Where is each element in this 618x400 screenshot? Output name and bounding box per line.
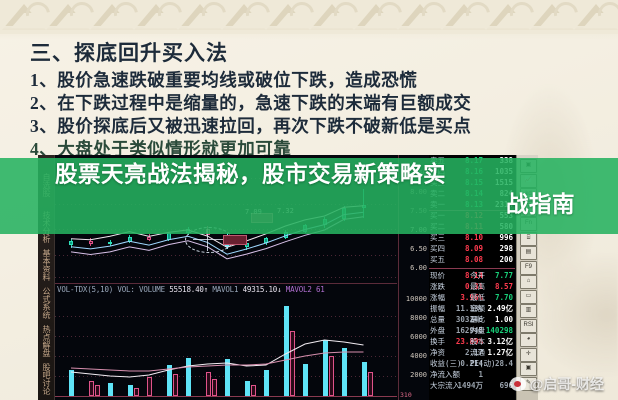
stat-label: 换手: [430, 336, 445, 347]
stat-value-2: 140298: [486, 325, 513, 336]
stat-label: 外盘: [430, 325, 445, 336]
stat-label-2: 内盘: [470, 325, 485, 336]
lesson-item-1: 1、股价急速跌破重要均线或破位下跌，造成恐慌: [30, 69, 600, 92]
lesson-heading: 三、探底回升买入法: [30, 40, 600, 66]
quote-qty: 200: [499, 254, 513, 265]
price-axis-tick: 6.50: [410, 245, 427, 253]
stat-value-2: 1.27亿: [487, 347, 513, 358]
watermark-handle: @启哥-财经: [530, 374, 604, 394]
sidebar-item-4[interactable]: 热点解盘: [39, 325, 53, 357]
stat-value-2: 7.77: [495, 270, 513, 281]
volume-axis-tick: 4000: [410, 352, 427, 360]
f9-icon[interactable]: F9: [520, 261, 537, 275]
screenshot-root: 三、探底回升买入法 1、股价急速跌破重要均线或破位下跌，造成恐慌 2、在下跌过程…: [0, 0, 618, 400]
stat-label-2: 量比: [470, 314, 485, 325]
stat-value-2: 2.49亿: [487, 303, 513, 314]
quote-qty: 298: [499, 243, 513, 254]
table-icon[interactable]: ▥: [520, 304, 537, 318]
quote-stat-row: 净流入额1: [429, 369, 515, 380]
quote-label: 买五: [430, 254, 445, 265]
stat-value-2: 7.70: [495, 292, 513, 303]
sidebar-item-3[interactable]: 公式系统: [39, 287, 53, 319]
bid-row[interactable]: 买四8.09298: [429, 243, 515, 254]
lesson-item-3: 3、股价探底后又被迅速拉回，再次下跌不破新低是买点: [30, 115, 600, 138]
quote-price: 8.08: [455, 254, 483, 265]
window-icon[interactable]: ▭: [520, 290, 537, 304]
ornament-fade: [0, 26, 618, 40]
stat-value-2: 3.12亿: [487, 336, 513, 347]
banner-title-line1: 股票天亮战法揭秘，股市交易新策略实: [55, 162, 446, 187]
stat-value: 1: [455, 369, 483, 380]
quote-stat-row: 换手23.89%股本3.12亿: [429, 336, 515, 347]
quote-stat-row: 振幅11.13%金额2.49亿: [429, 303, 515, 314]
quote-stat-row: 涨幅3.96%最低7.70: [429, 292, 515, 303]
crosshair-icon[interactable]: ✛: [520, 348, 537, 362]
stat-label: 涨幅: [430, 292, 445, 303]
stat-label: 涨跌: [430, 281, 445, 292]
pie-icon[interactable]: ◕: [520, 333, 537, 347]
stat-label-2: 股本: [470, 336, 485, 347]
stat-label: 振幅: [430, 303, 445, 314]
price-tag-0: [223, 235, 247, 245]
volume-ma-lines: [55, 284, 397, 400]
volume-axis-tick: 10000: [406, 295, 427, 303]
quote-stat-row: 大宗流入1494万696: [429, 380, 515, 391]
quote-stat-row: 涨跌0.31最高8.57: [429, 281, 515, 292]
quote-stat-row: 外盘162948内盘140298: [429, 325, 515, 336]
stat-value-2: 28.4: [495, 358, 513, 369]
stat-label: 总量: [430, 314, 445, 325]
volume-axis-tick: 8000: [410, 314, 427, 322]
weibo-icon: [510, 377, 526, 391]
quote-price: 8.09: [455, 243, 483, 254]
volume-chart-pane[interactable]: VOL-TDX(5,10) VOL: VOLUME 55518.40↑ MAVO…: [55, 284, 397, 400]
stat-label-2: 今开: [470, 270, 485, 281]
panel-icon[interactable]: ▤: [520, 246, 537, 260]
stat-label: 净资: [430, 347, 445, 358]
lesson-item-2: 2、在下跌过程中是缩量的，急速下跌的末端有巨额成交: [30, 92, 600, 115]
stat-value-2: 1.00: [495, 314, 513, 325]
lesson-text-block: 三、探底回升买入法 1、股价急速跌破重要均线或破位下跌，造成恐慌 2、在下跌过程…: [30, 40, 600, 161]
volume-axis-tick: 6000: [410, 333, 427, 341]
price-axis-tick: 6.00: [410, 264, 427, 272]
quote-label: 买四: [430, 243, 445, 254]
quote-stat-row: 收益(三)0.214PE(动)28.4: [429, 358, 515, 369]
axis-badge: 310: [400, 391, 412, 399]
sidebar-item-2[interactable]: 基本资料: [39, 249, 53, 281]
quote-stat-row: 净资2.17流通1.27亿: [429, 347, 515, 358]
banner-title: 股票天亮战法揭秘，股市交易新策略实 战指南: [55, 160, 575, 232]
stat-label-2: 最低: [470, 292, 485, 303]
stat-label-2: PE(动): [470, 358, 496, 369]
quote-separator: [429, 268, 515, 269]
quote-stat-row: 总量303246量比1.00: [429, 314, 515, 325]
watermark: @启哥-财经: [510, 374, 604, 394]
stat-label-2: 流通: [470, 347, 485, 358]
home-icon[interactable]: ⌂: [520, 275, 537, 289]
banner-title-line2: 战指南: [55, 190, 575, 220]
stat-value: 1494万: [455, 380, 483, 391]
stat-label-2: 最高: [470, 281, 485, 292]
sidebar-item-5[interactable]: 股吧讨论: [39, 363, 53, 395]
volume-baseline: [55, 396, 397, 397]
bid-row[interactable]: 买五8.08200: [429, 254, 515, 265]
crosshair-horizontal: [193, 239, 223, 240]
quote-stat-row: 现价8.14今开7.77: [429, 270, 515, 281]
stat-label-2: 金额: [470, 303, 485, 314]
stat-value-2: 8.57: [495, 281, 513, 292]
volume-axis-tick: 2000: [410, 371, 427, 379]
stat-label: 现价: [430, 270, 445, 281]
rsi-icon[interactable]: RSI: [520, 319, 537, 333]
